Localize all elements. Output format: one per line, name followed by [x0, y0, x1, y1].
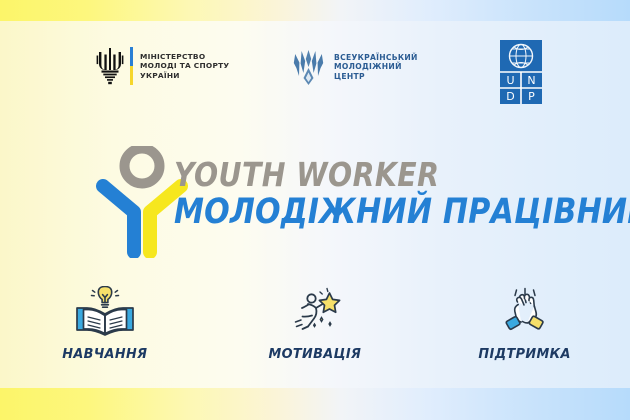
brand-line-uk: МОЛОДІЖНИЙ ПРАЦІВНИК: [174, 192, 630, 232]
feature-motivation: МОТИВАЦІЯ: [210, 286, 420, 362]
partner-center-text: ВСЕУКРАЇНСЬКИЙ МОЛОДІЖНИЙ ЦЕНТР: [334, 53, 418, 82]
feature-support-label: ПІДТРИМКА: [479, 346, 571, 362]
partner-logo-all-ukrainian-youth-center: ВСЕУКРАЇНСЬКИЙ МОЛОДІЖНИЙ ЦЕНТР: [292, 46, 418, 88]
handshake-icon: [494, 286, 556, 338]
partner-ministry-line-2: МОЛОДІ ТА СПОРТУ: [140, 61, 229, 70]
stylized-trident-icon: [292, 46, 325, 88]
feature-motivation-label: МОТИВАЦІЯ: [269, 346, 362, 362]
trident-icon: [95, 46, 125, 86]
feature-learning-label: НАВЧАННЯ: [62, 346, 147, 362]
partner-ministry-text: МІНІСТЕРСТВО МОЛОДІ ТА СПОРТУ УКРАЇНИ: [140, 52, 229, 80]
feature-list: НАВЧАННЯ: [0, 286, 630, 368]
brand-wordmark: YOUTH WORKER МОЛОДІЖНИЙ ПРАЦІВНИК: [174, 157, 630, 232]
book-lightbulb-icon: [74, 286, 136, 338]
poster-canvas: МІНІСТЕРСТВО МОЛОДІ ТА СПОРТУ УКРАЇНИ: [0, 0, 630, 420]
feature-learning: НАВЧАННЯ: [0, 286, 210, 362]
partner-ministry-line-3: УКРАЇНИ: [140, 71, 229, 80]
flag-divider-bar: [130, 47, 133, 85]
partner-logo-undp: U N D P: [500, 40, 542, 104]
top-gradient-strip: [0, 0, 630, 21]
partner-logo-ministry-of-youth-and-sports: МІНІСТЕРСТВО МОЛОДІ ТА СПОРТУ УКРАЇНИ: [95, 46, 229, 86]
partner-center-line-1: ВСЕУКРАЇНСЬКИЙ: [334, 53, 418, 63]
partner-center-line-3: ЦЕНТР: [334, 72, 418, 82]
undp-letter-p: P: [528, 90, 535, 103]
undp-letter-d: D: [506, 90, 514, 103]
running-person-star-icon: [284, 286, 346, 338]
bottom-gradient-strip: [0, 388, 630, 420]
undp-letter-u: U: [506, 74, 514, 87]
undp-letter-n: N: [527, 74, 535, 87]
feature-support: ПІДТРИМКА: [420, 286, 630, 362]
undp-logo-icon: U N D P: [500, 40, 542, 104]
brand-line-en: YOUTH WORKER: [174, 157, 630, 192]
partner-ministry-line-1: МІНІСТЕРСТВО: [140, 52, 229, 61]
partner-center-line-2: МОЛОДІЖНИЙ: [334, 62, 418, 72]
partner-logo-row: МІНІСТЕРСТВО МОЛОДІ ТА СПОРТУ УКРАЇНИ: [0, 44, 630, 112]
